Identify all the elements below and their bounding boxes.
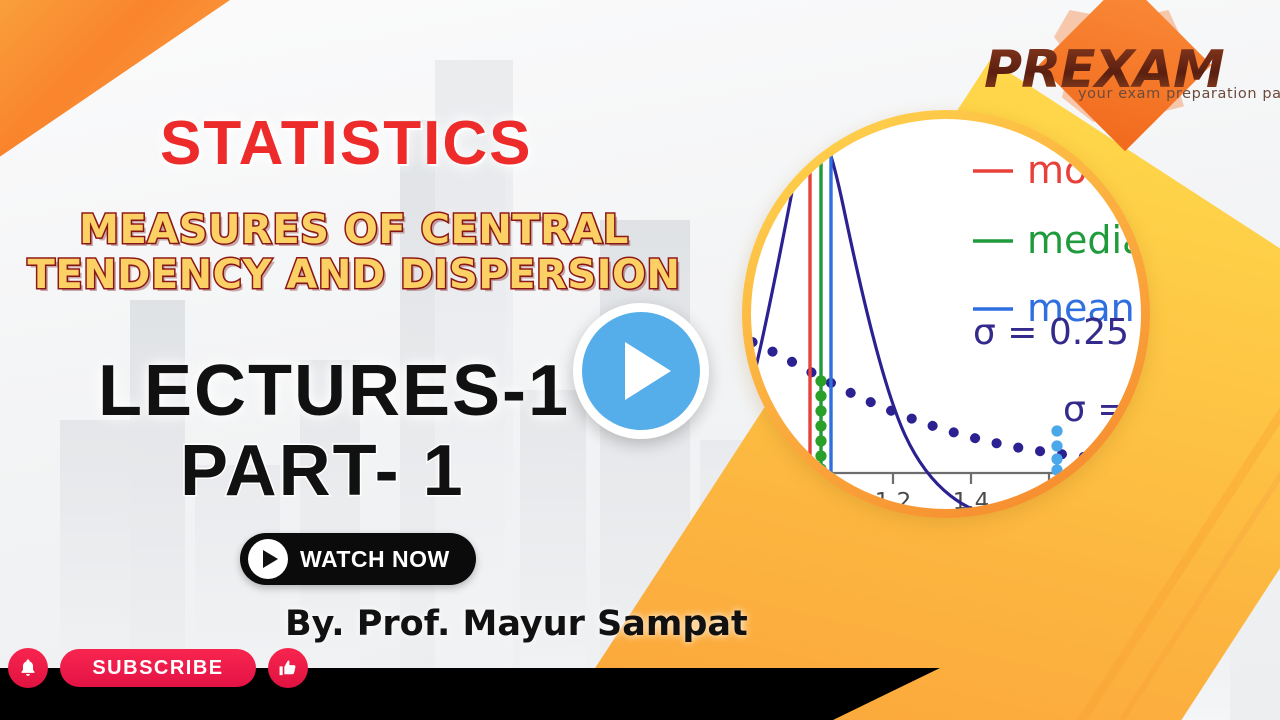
author-credit: By. Prof. Mayur Sampat <box>285 604 748 644</box>
annotation-sigma-025: σ = 0.25 <box>973 312 1129 353</box>
play-icon <box>248 539 288 579</box>
thumbnail-canvas: 1.0 1.2 1.4 1.6 1.8 <box>0 0 1280 720</box>
video-play-button[interactable] <box>573 303 709 439</box>
watch-now-button[interactable]: WATCH NOW <box>240 533 476 585</box>
legend-label-mode: mode <box>1027 148 1135 192</box>
svg-text:1.2: 1.2 <box>875 489 912 509</box>
part-label: PART- 1 <box>180 430 465 512</box>
brand-tagline: your exam preparation partner <box>1078 86 1280 102</box>
subtitle-line-1: MEASURES OF CENTRAL <box>14 208 694 253</box>
engagement-bar: SUBSCRIBE <box>8 648 308 688</box>
svg-text:1.6: 1.6 <box>1031 489 1068 509</box>
svg-text:1.4: 1.4 <box>953 489 990 509</box>
svg-text:1.8: 1.8 <box>1109 489 1141 509</box>
x-axis-ticks <box>815 473 1127 484</box>
svg-text:1.0: 1.0 <box>797 489 834 509</box>
chart-legend: mode median mean <box>973 148 1141 330</box>
chart-ring-frame: 1.0 1.2 1.4 1.6 1.8 <box>742 110 1150 518</box>
lecture-label: LECTURES-1 <box>98 350 570 432</box>
distribution-plot: 1.0 1.2 1.4 1.6 1.8 <box>751 119 1141 509</box>
statistics-chart: 1.0 1.2 1.4 1.6 1.8 <box>751 119 1141 509</box>
bell-icon[interactable] <box>8 648 48 688</box>
play-icon <box>582 312 700 430</box>
legend-label-median: median <box>1027 218 1141 262</box>
thumbs-up-icon[interactable] <box>268 648 308 688</box>
brand-logo: PREXAM ® your exam preparation partner <box>992 4 1280 124</box>
annotation-sigma-1: σ = 1 <box>1063 389 1141 430</box>
subscribe-label: SUBSCRIBE <box>92 657 223 680</box>
watch-now-label: WATCH NOW <box>300 546 450 573</box>
page-title: STATISTICS <box>160 108 532 179</box>
subtitle-block: MEASURES OF CENTRAL TENDENCY AND DISPERS… <box>14 208 694 298</box>
subtitle-line-2: TENDENCY AND DISPERSION <box>14 253 694 298</box>
subscribe-button[interactable]: SUBSCRIBE <box>60 649 256 687</box>
